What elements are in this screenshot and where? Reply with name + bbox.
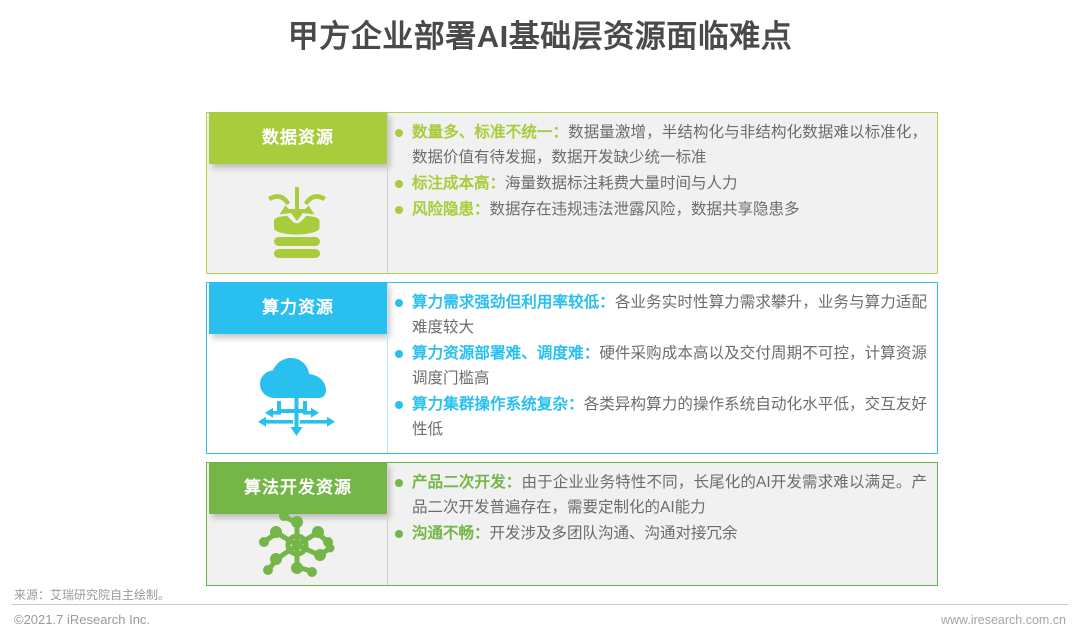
block-label-algorithm-dev-resources[interactable]: 算法开发资源 bbox=[209, 462, 387, 514]
footer-left-spacer bbox=[0, 604, 6, 640]
block-content-algorithm-dev-resources: 产品二次开发：由于企业业务特性不同，长尾化的AI开发需求难以满足。产品二次开发普… bbox=[387, 463, 937, 585]
bullet-text: 开发涉及多团队沟通、沟通对接冗余 bbox=[490, 525, 738, 542]
bullet-text: 海量数据标注耗费大量时间与人力 bbox=[505, 175, 738, 192]
source-note: 来源：艾瑞研究院自主绘制。 bbox=[14, 586, 170, 603]
list-item: 算力资源部署难、调度难：硬件采购成本高以及交付周期不可控，计算资源调度门槛高 bbox=[394, 341, 927, 391]
block-left-column: 数据资源 bbox=[207, 113, 387, 273]
molecule-network-icon bbox=[207, 511, 387, 579]
cloud-distribution-icon bbox=[207, 337, 387, 453]
block-content-data-resources: 数量多、标准不统一：数据量激增，半结构化与非结构化数据难以标准化，数据价值有待发… bbox=[387, 113, 937, 273]
block-label-compute-resources[interactable]: 算力资源 bbox=[209, 282, 387, 334]
bullet-lead: 数量多、标准不统一： bbox=[412, 124, 568, 141]
database-inflow-icon bbox=[207, 167, 387, 273]
list-item: 算力需求强劲但利用率较低：各业务实时性算力需求攀升，业务与算力适配难度较大 bbox=[394, 290, 927, 340]
bullet-list: 数量多、标准不统一：数据量激增，半结构化与非结构化数据难以标准化，数据价值有待发… bbox=[394, 120, 927, 222]
bullet-lead: 算力需求强劲但利用率较低： bbox=[412, 294, 615, 311]
bullet-text: 数据存在违规违法泄露风险，数据共享隐患多 bbox=[490, 201, 800, 218]
bullet-lead: 产品二次开发： bbox=[412, 474, 521, 491]
bullet-lead: 沟通不畅： bbox=[412, 525, 490, 542]
bullet-lead: 算力集群操作系统复杂： bbox=[412, 396, 584, 413]
list-item: 数量多、标准不统一：数据量激增，半结构化与非结构化数据难以标准化，数据价值有待发… bbox=[394, 120, 927, 170]
block-compute-resources: 算力资源 bbox=[206, 282, 938, 454]
block-algorithm-dev-resources: 算法开发资源 bbox=[206, 462, 938, 586]
copyright-text: ©2021.7 iResearch Inc. bbox=[14, 612, 150, 627]
content-blocks: 数据资源 bbox=[206, 112, 938, 594]
bullet-lead: 风险隐患： bbox=[412, 201, 490, 218]
list-item: 标注成本高：海量数据标注耗费大量时间与人力 bbox=[394, 171, 927, 196]
bullet-lead: 标注成本高： bbox=[412, 175, 505, 192]
website-url: www.iresearch.com.cn bbox=[941, 613, 1066, 627]
block-label-data-resources[interactable]: 数据资源 bbox=[209, 112, 387, 164]
bullet-list: 算力需求强劲但利用率较低：各业务实时性算力需求攀升，业务与算力适配难度较大 算力… bbox=[394, 290, 927, 442]
block-left-column: 算法开发资源 bbox=[207, 463, 387, 585]
list-item: 产品二次开发：由于企业业务特性不同，长尾化的AI开发需求难以满足。产品二次开发普… bbox=[394, 470, 927, 520]
list-item: 沟通不畅：开发涉及多团队沟通、沟通对接冗余 bbox=[394, 521, 927, 546]
list-item: 算力集群操作系统复杂：各类异构算力的操作系统自动化水平低，交互友好性低 bbox=[394, 392, 927, 442]
list-item: 风险隐患：数据存在违规违法泄露风险，数据共享隐患多 bbox=[394, 197, 927, 222]
bullet-lead: 算力资源部署难、调度难： bbox=[412, 345, 599, 362]
block-left-column: 算力资源 bbox=[207, 283, 387, 453]
block-content-compute-resources: 算力需求强劲但利用率较低：各业务实时性算力需求攀升，业务与算力适配难度较大 算力… bbox=[387, 283, 937, 453]
footer-divider bbox=[12, 604, 1068, 605]
block-data-resources: 数据资源 bbox=[206, 112, 938, 274]
page-title: 甲方企业部署AI基础层资源面临难点 bbox=[0, 16, 1080, 58]
bullet-list: 产品二次开发：由于企业业务特性不同，长尾化的AI开发需求难以满足。产品二次开发普… bbox=[394, 470, 927, 546]
